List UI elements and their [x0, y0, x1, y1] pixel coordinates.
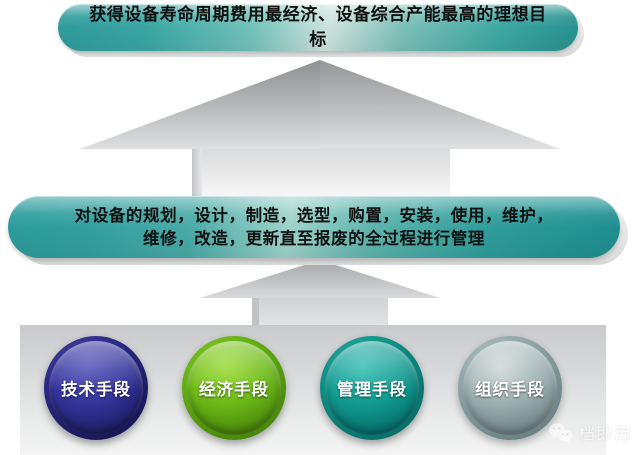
scope-banner: 对设备的规划，设计，制造，选型，购置，安装，使用，维护， 维修，改造，更新直至报…: [8, 196, 620, 258]
method-circle-economic[interactable]: 经济手段: [182, 336, 286, 440]
watermark: 档即用: [548, 420, 632, 445]
method-label: 管理手段: [337, 376, 407, 400]
method-label: 经济手段: [199, 376, 269, 400]
goal-banner-text: 获得设备寿命周期费用最经济、设备综合产能最高的理想目标: [58, 3, 578, 51]
watermark-text: 档即用: [578, 420, 632, 445]
method-circle-organizational[interactable]: 组织手段: [458, 336, 562, 440]
method-label: 组织手段: [475, 376, 545, 400]
scope-banner-line2: 维修，改造，更新直至报废的全过程进行管理: [143, 229, 485, 248]
wechat-icon: [548, 422, 574, 444]
scope-banner-line1: 对设备的规划，设计，制造，选型，购置，安装，使用，维护，: [75, 206, 554, 225]
large-up-arrow-icon: [0, 52, 640, 202]
diagram-canvas: 获得设备寿命周期费用最经济、设备综合产能最高的理想目标 对设备的规划，设计，制造…: [0, 0, 640, 455]
scope-banner-text: 对设备的规划，设计，制造，选型，购置，安装，使用，维护， 维修，改造，更新直至报…: [8, 204, 620, 251]
method-label: 技术手段: [61, 376, 131, 400]
goal-banner: 获得设备寿命周期费用最经济、设备综合产能最高的理想目标: [58, 4, 578, 51]
method-circle-technical[interactable]: 技术手段: [44, 336, 148, 440]
method-circle-management[interactable]: 管理手段: [320, 336, 424, 440]
